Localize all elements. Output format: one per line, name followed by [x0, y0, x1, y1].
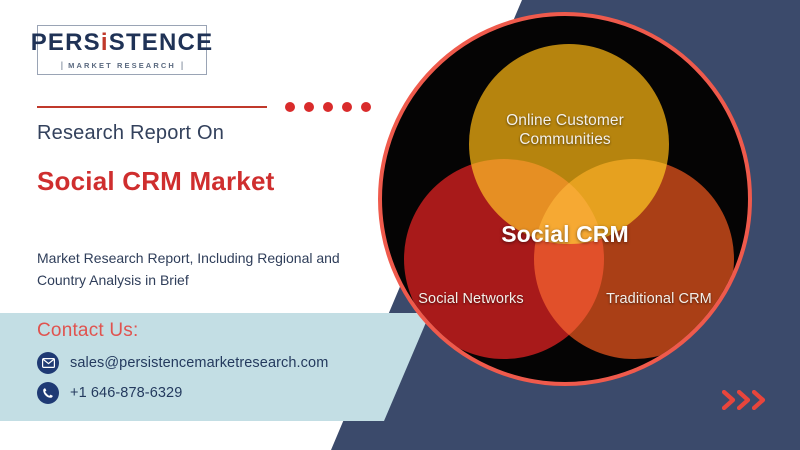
venn-label-social-crm: Social CRM	[485, 221, 645, 248]
contact-row-email[interactable]: sales@persistencemarketresearch.com	[37, 352, 328, 374]
logo-word-accent-i: i	[101, 29, 109, 56]
report-subtitle: Market Research Report, Including Region…	[37, 248, 347, 291]
poster-canvas: Online Customer Communities Social Netwo…	[0, 0, 800, 450]
red-dots-decoration	[285, 102, 371, 112]
page-title: Social CRM Market	[37, 165, 337, 198]
chevron-right-icon	[722, 390, 736, 410]
venn-backdrop-circle	[378, 12, 752, 386]
venn-label-social-networks: Social Networks	[386, 291, 556, 309]
report-kicker: Research Report On	[37, 122, 224, 145]
venn-circle-traditional-crm	[534, 159, 734, 359]
logo-tick-right-icon: |	[181, 61, 183, 70]
logo-word-part1: PERS	[31, 29, 101, 56]
chevron-right-icon	[752, 390, 766, 410]
red-dot	[304, 102, 314, 112]
logo-subtitle: MARKET RESEARCH	[68, 61, 176, 70]
contact-email: sales@persistencemarketresearch.com	[70, 355, 328, 371]
contact-row-phone[interactable]: +1 646-878-6329	[37, 382, 182, 404]
red-divider-rule	[37, 106, 267, 108]
chevron-right-icon	[737, 390, 751, 410]
logo-wordmark: PERSiSTENCE	[31, 31, 214, 55]
red-dot	[285, 102, 295, 112]
phone-icon	[37, 382, 59, 404]
red-dot	[361, 102, 371, 112]
envelope-icon	[37, 352, 59, 374]
venn-label-online-customer-communities: Online Customer Communities	[475, 112, 655, 150]
logo-tick-left-icon: |	[61, 61, 63, 70]
red-dot	[342, 102, 352, 112]
venn-label-traditional-crm: Traditional CRM	[574, 291, 744, 309]
red-dot	[323, 102, 333, 112]
venn-diagram: Online Customer Communities Social Netwo…	[378, 12, 752, 386]
logo-subtitle-row: | MARKET RESEARCH |	[61, 61, 183, 70]
chevron-arrows-decoration	[722, 390, 766, 410]
logo-word-part2: STENCE	[109, 29, 214, 56]
company-logo: PERSiSTENCE | MARKET RESEARCH |	[37, 25, 207, 75]
contact-heading: Contact Us:	[37, 320, 138, 342]
contact-phone: +1 646-878-6329	[70, 385, 182, 401]
